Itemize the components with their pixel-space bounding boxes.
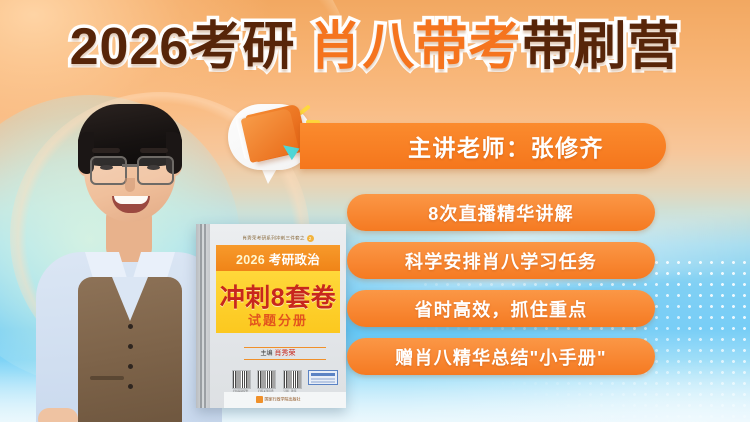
book-volume: 试题分册 [210,310,346,329]
book-main-title: 冲刺8套卷 [210,278,346,314]
book-label-bar [311,373,335,376]
book-cover: 肖秀荣考研系列冲刺三件套之2 2026 考研政治 冲刺8套卷 试题分册 主编 肖… [196,224,346,408]
instructor-vest-button [128,364,133,369]
feature-label: 科学安排肖八学习任务 [405,248,597,274]
qr-code-image [283,370,302,389]
promo-banner: 2026考研肖八带考带刷营 [0,0,750,422]
book-year: 2026 [236,253,265,267]
title-part-year: 2026考研 [70,18,296,76]
instructor-teeth [114,196,148,204]
book-spine-line [204,224,206,408]
book-author-line: 主编 肖秀荣 [210,348,346,358]
instructor-vest-button [128,344,133,349]
instructor-eyebrow-left [92,148,120,153]
title-part-brown: 带刷营 [521,18,680,76]
publisher-logo-icon [256,396,263,403]
feature-pill-1[interactable]: 8次直播精华讲解 [347,194,655,231]
book-label-line [311,381,335,383]
book-editor-name: 肖秀荣 [274,350,295,357]
glasses-icon [137,156,174,185]
publisher-name: 国家行政学院出版社 [265,397,301,402]
book-label-line [311,378,335,380]
book-series-text: 肖秀荣考研系列冲刺三件套之 [242,236,304,241]
feature-label: 省时高效，抓住重点 [415,296,588,322]
instructor-nose [125,178,135,192]
book-editor-label: 主编 [261,351,273,357]
qr-code-image [232,370,251,389]
book-divider [244,359,326,360]
feature-label: 8次直播精华讲解 [428,200,574,226]
book-spine [196,224,210,408]
book-spine-line [200,224,202,408]
glasses-icon [90,156,127,185]
title-part-orange: 肖八带考 [309,18,521,76]
instructor-eyebrow-right [140,148,168,153]
qr-code-image [257,370,276,389]
feature-pill-2[interactable]: 科学安排肖八学习任务 [347,242,655,279]
instructor-name-label: 主讲老师：张修齐 [408,129,604,163]
instructor-name-banner: 主讲老师：张修齐 [300,123,666,169]
book-publisher: 国家行政学院出版社 [210,396,346,403]
book-series-line: 肖秀荣考研系列冲刺三件套之2 [210,235,346,242]
feature-pill-3[interactable]: 省时高效，抓住重点 [347,290,655,327]
book-subject: 考研政治 [269,253,320,267]
glasses-bridge [122,164,138,167]
book-series-badge: 2 [307,235,314,242]
instructor-vest-button [128,324,133,329]
instructor-hand [38,408,78,422]
book-title-line1: 2026 考研政治 [210,249,346,268]
banner-title: 2026考研肖八带考带刷营 [0,16,750,78]
feature-pill-4[interactable]: 赠肖八精华总结"小手册" [347,338,655,375]
instructor-vest-pocket [90,376,124,380]
instructor-vest-button [128,384,133,389]
book-front-face: 肖秀荣考研系列冲刺三件套之2 2026 考研政治 冲刺8套卷 试题分册 主编 肖… [210,224,346,408]
book-label-box [308,370,338,385]
feature-label: 赠肖八精华总结"小手册" [395,344,606,370]
